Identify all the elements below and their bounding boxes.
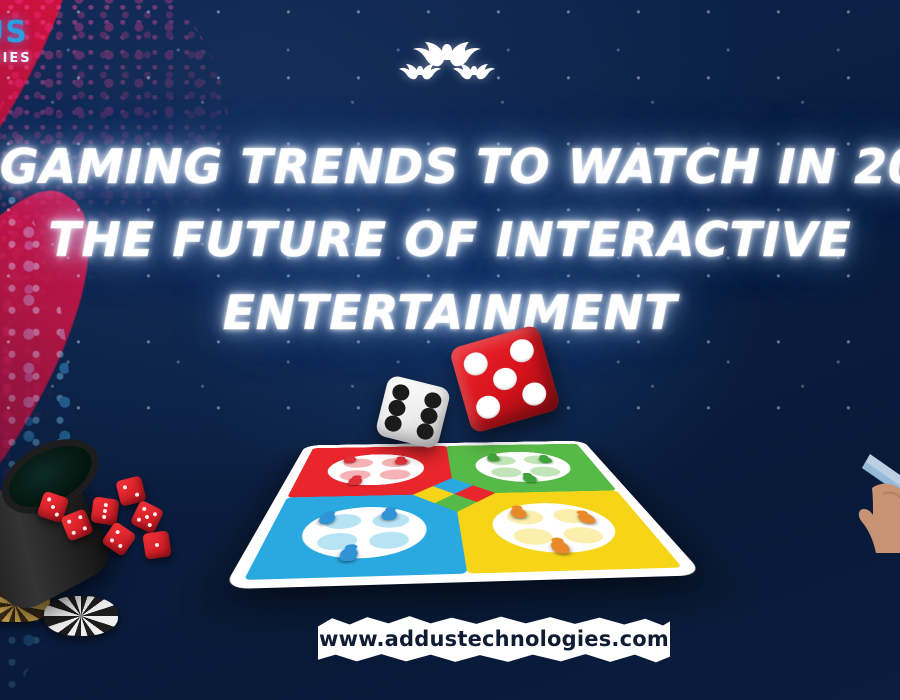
bats-icon: [392, 28, 502, 88]
casino-die: [90, 496, 119, 525]
website-url-banner[interactable]: www.addustechnologies.com: [318, 613, 670, 665]
page-title: GAMING TRENDS TO WATCH IN 2025: THE FUTU…: [0, 131, 900, 350]
logo-brand-text: DUS: [0, 18, 114, 48]
title-line-3: ENTERTAINMENT: [0, 277, 900, 350]
ludo-board: [296, 443, 596, 618]
board-quadrant-yellow: [454, 490, 682, 573]
addus-technologies-logo[interactable]: DUS OLOGIES: [0, 18, 114, 66]
board-quadrant-blue: [244, 494, 467, 580]
title-line-2: THE FUTURE OF INTERACTIVE: [0, 204, 900, 277]
white-die: [374, 374, 451, 450]
logo-subtitle-text: OLOGIES: [0, 51, 114, 66]
title-line-1: GAMING TRENDS TO WATCH IN 2025:: [0, 131, 900, 204]
website-url-text: www.addustechnologies.com: [318, 613, 670, 665]
hand-with-stylus: [836, 448, 900, 568]
poster-canvas: DUS OLOGIES GAMING TRENDS TO WATCH IN 20…: [0, 0, 900, 700]
casino-die: [142, 530, 171, 559]
